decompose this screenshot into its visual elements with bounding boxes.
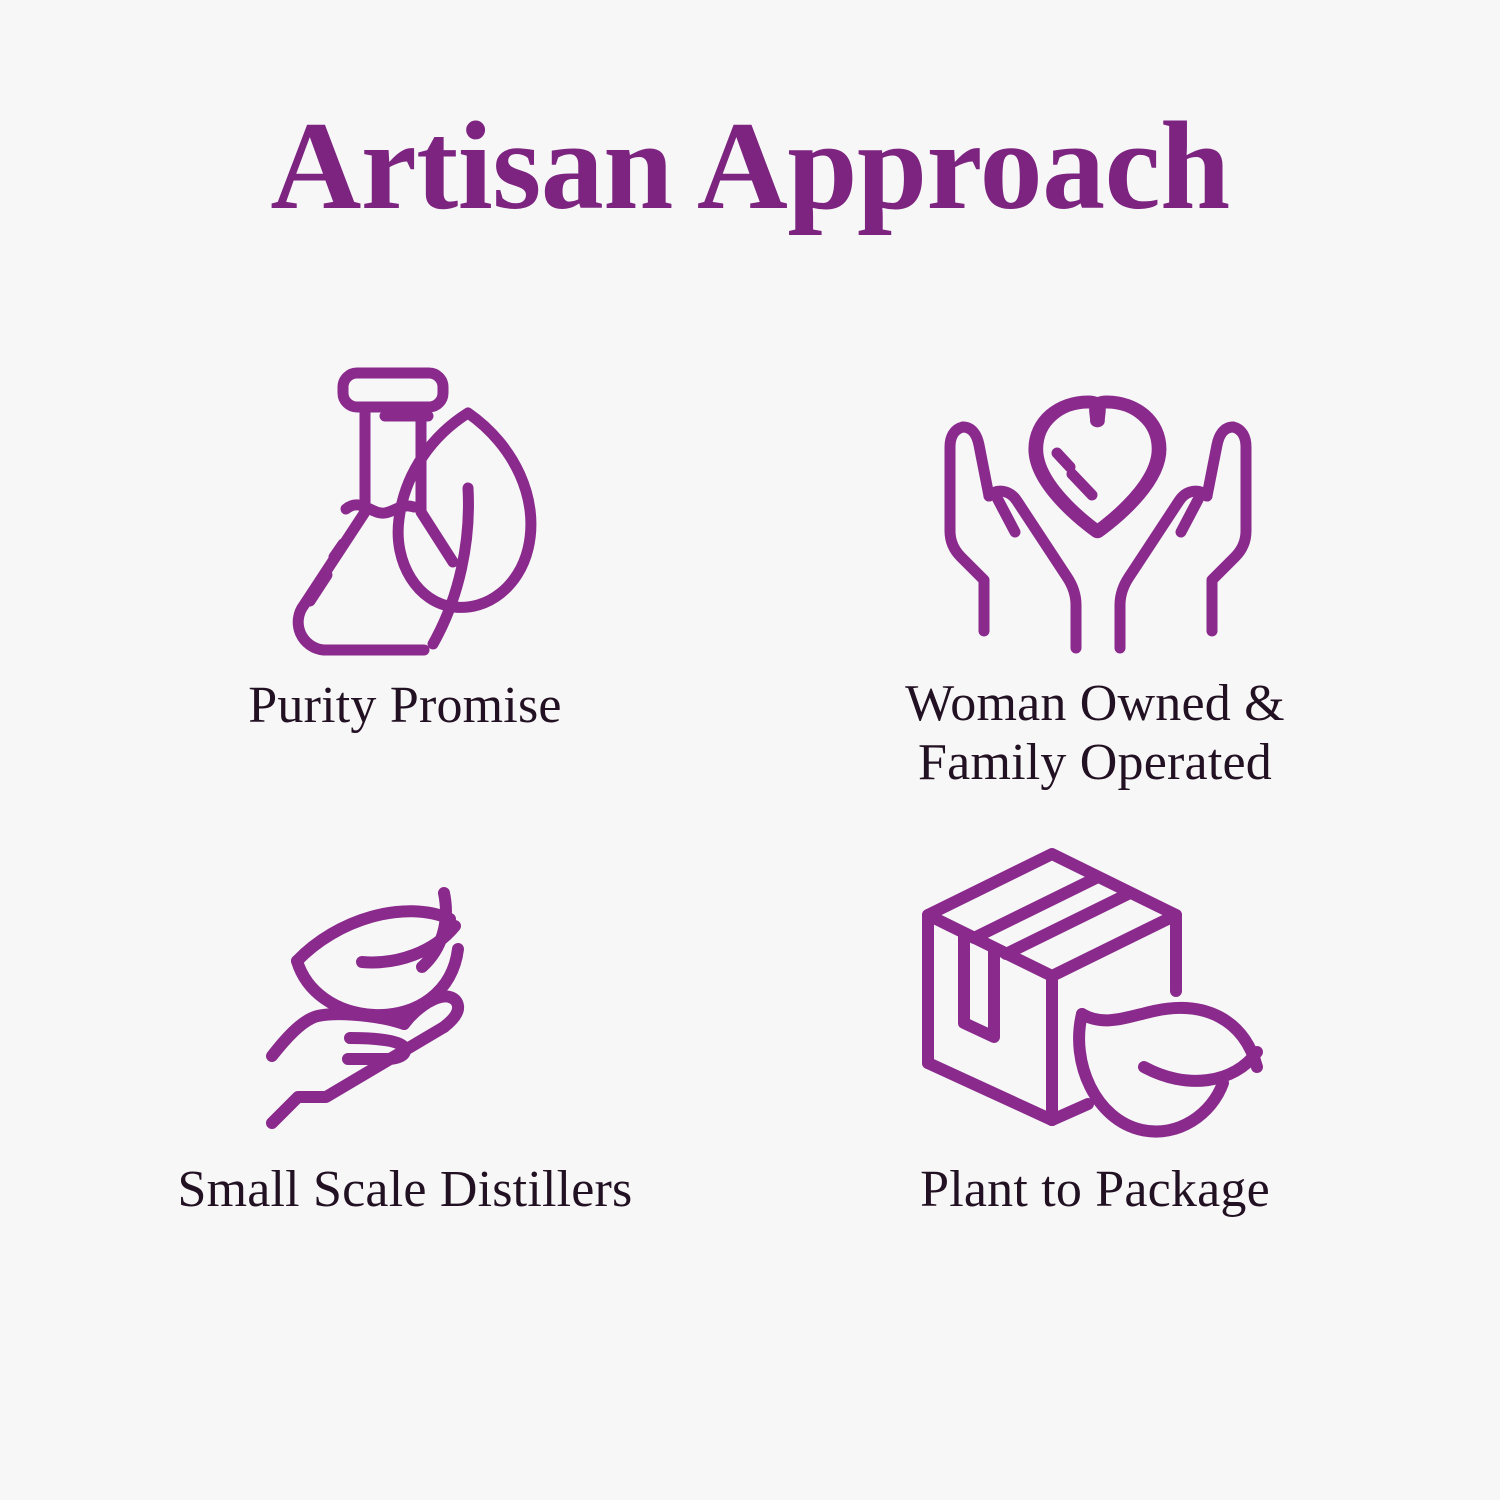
- feature-label-line1: Woman Owned &: [905, 675, 1285, 732]
- hand-holding-leaf-icon: [258, 845, 536, 1145]
- feature-item-purity-promise: Purity Promise: [60, 355, 750, 835]
- hands-holding-heart-icon: [942, 363, 1254, 663]
- page-title: Artisan Approach: [0, 104, 1500, 230]
- feature-grid: Purity Promise: [60, 355, 1440, 1315]
- box-leaf-icon: [906, 841, 1304, 1141]
- feature-item-small-scale-distillers: Small Scale Distillers: [60, 835, 750, 1315]
- feature-label-line1: Small Scale Distillers: [177, 1161, 632, 1218]
- feature-item-woman-owned: Woman Owned & Family Operated: [750, 355, 1440, 835]
- feature-label: Small Scale Distillers: [177, 1161, 632, 1220]
- feature-label-line1: Plant to Package: [920, 1161, 1270, 1218]
- artisan-approach-panel: Artisan Approach: [0, 0, 1500, 1500]
- flask-leaf-icon: [282, 357, 544, 657]
- feature-item-plant-to-package: Plant to Package: [750, 835, 1440, 1315]
- feature-label: Purity Promise: [248, 677, 561, 736]
- feature-label: Woman Owned & Family Operated: [905, 675, 1285, 793]
- feature-label: Plant to Package: [920, 1161, 1270, 1220]
- feature-label-line1: Purity Promise: [248, 677, 561, 734]
- feature-label-line2: Family Operated: [905, 734, 1285, 793]
